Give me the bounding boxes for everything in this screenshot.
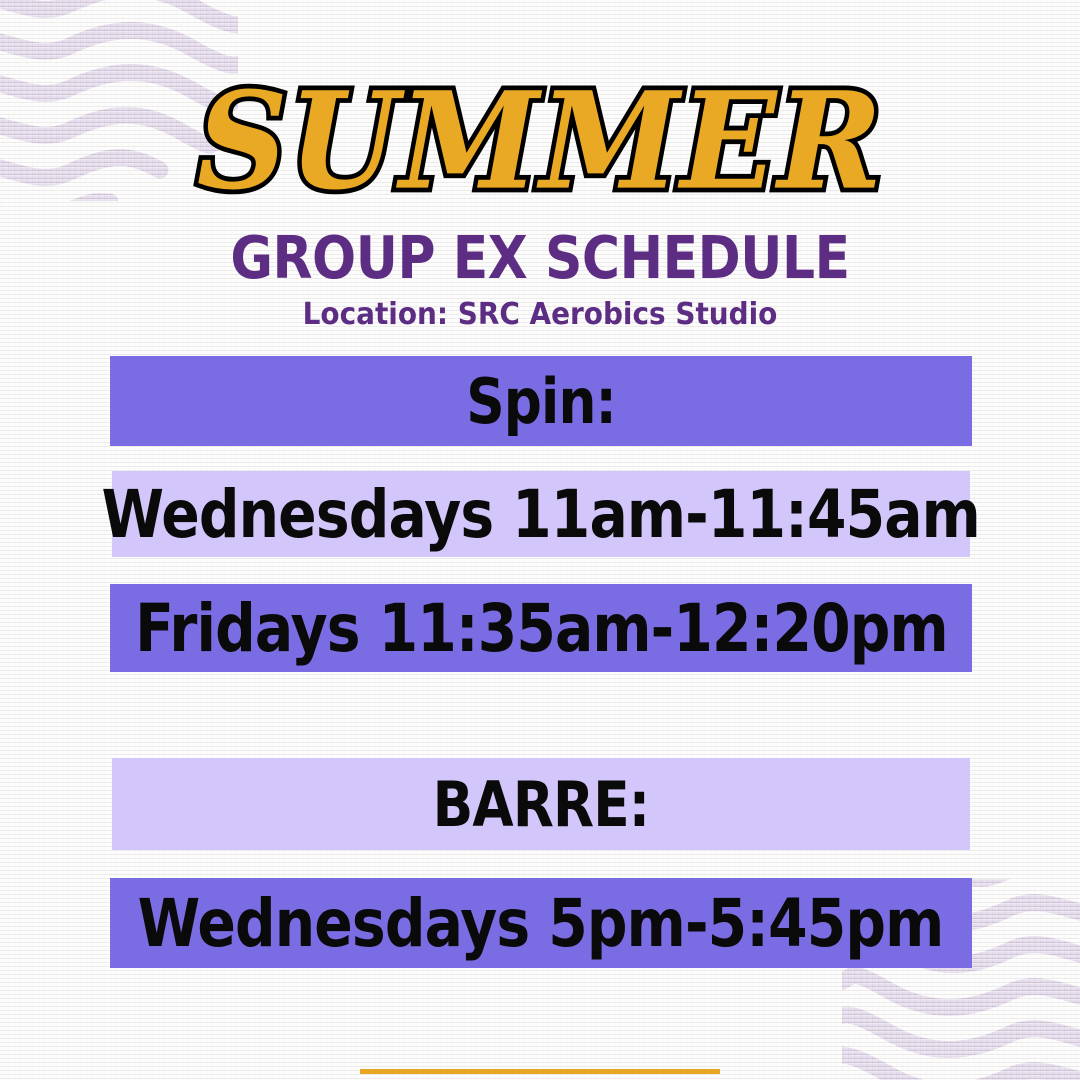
schedule-entry-label: Wednesdays 5pm-5:45pm: [138, 885, 944, 962]
poster-header: SUMMER GROUP EX SCHEDULE Location: SRC A…: [0, 0, 1080, 332]
schedule-entry-barre-wednesdays: Wednesdays 5pm-5:45pm: [110, 878, 972, 968]
title-wrapper: SUMMER: [0, 78, 1080, 213]
schedule-heading-label: Spin:: [466, 365, 616, 438]
schedule-entry-label: Fridays 11:35am-12:20pm: [135, 590, 948, 667]
schedule-entry-spin-fridays: Fridays 11:35am-12:20pm: [110, 584, 972, 672]
schedule-entry-spin-wednesdays: Wednesdays 11am-11:45am: [112, 471, 970, 557]
schedule-heading-barre: BARRE:: [112, 758, 970, 850]
location-label: Location: SRC Aerobics Studio: [38, 298, 1042, 332]
gold-divider-line: [360, 1069, 720, 1074]
schedule-entry-label: Wednesdays 11am-11:45am: [102, 476, 980, 553]
poster-canvas: SUMMER GROUP EX SCHEDULE Location: SRC A…: [0, 0, 1080, 1080]
page-subtitle: GROUP EX SCHEDULE: [65, 227, 1015, 289]
page-title: SUMMER: [0, 74, 1080, 208]
schedule-heading-label: BARRE:: [433, 768, 650, 841]
schedule-heading-spin: Spin:: [110, 356, 972, 446]
